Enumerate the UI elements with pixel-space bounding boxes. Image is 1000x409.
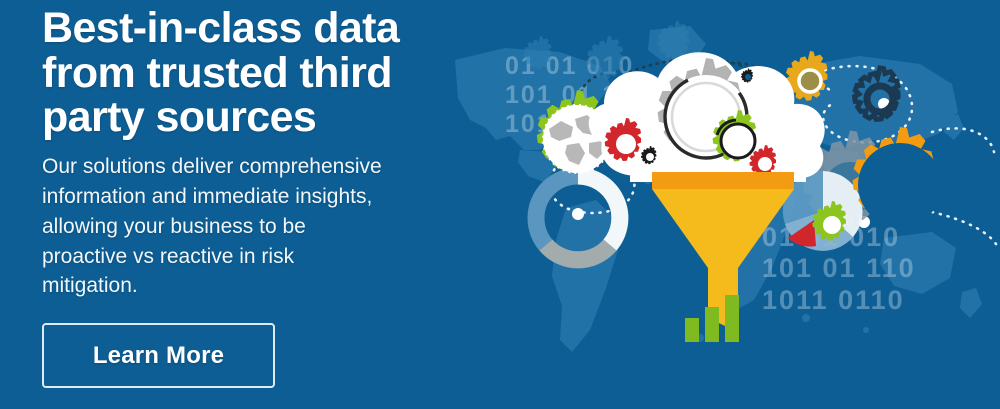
learn-more-button[interactable]: Learn More	[42, 323, 275, 388]
hero-banner: 01 01 010 101 01 110 1011 0110 01 01 010…	[0, 0, 1000, 409]
hero-subhead: Our solutions deliver comprehensive info…	[42, 152, 492, 301]
hero-text-column: Best-in-class data from trusted third pa…	[42, 6, 492, 388]
data-processing-illustration	[480, 0, 1000, 409]
donut-chart-decor	[536, 176, 620, 260]
funnel-icon	[652, 172, 794, 332]
page-title: Best-in-class data from trusted third pa…	[42, 6, 492, 140]
navy-outline-gear	[855, 68, 898, 119]
